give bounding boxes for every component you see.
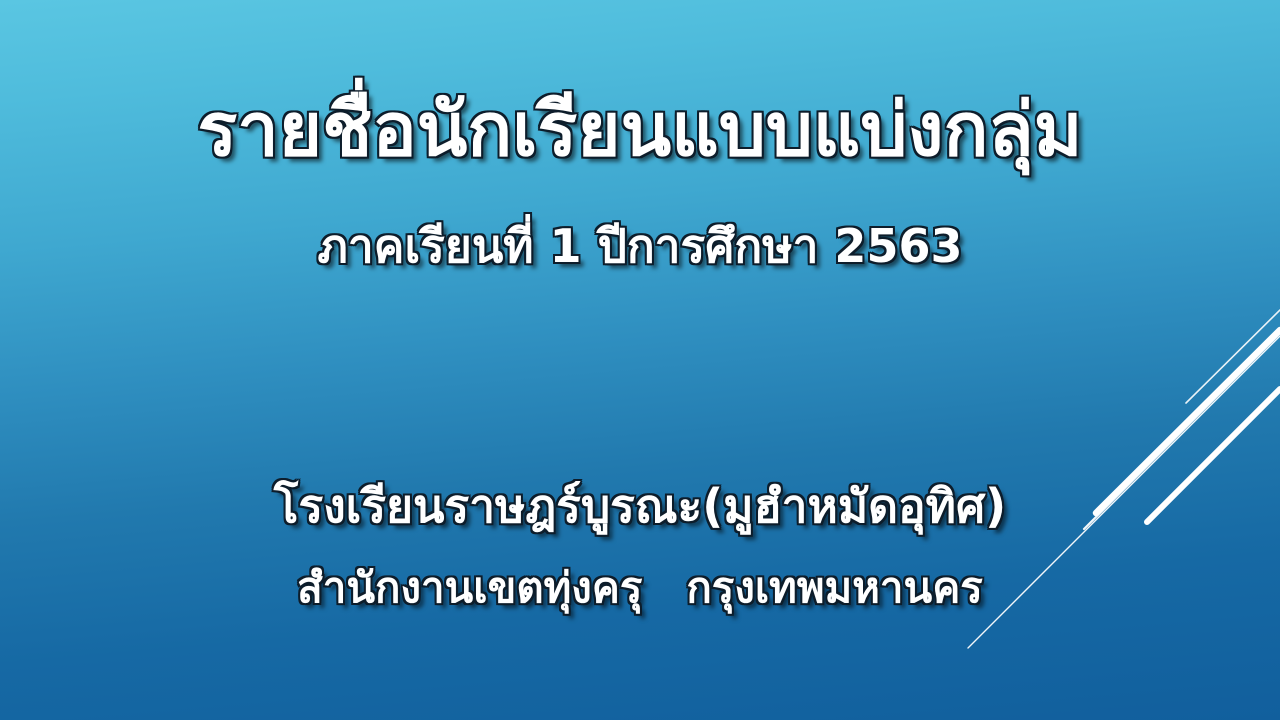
title-slide: รายชื่อนักเรียนแบบแบ่งกลุ่ม ภาคเรียนที่ … (0, 0, 1280, 720)
district-office-line: สำนักงานเขตทุ่งครุ กรุงเทพมหานคร (0, 566, 1280, 610)
slide-title: รายชื่อนักเรียนแบบแบ่งกลุ่ม (0, 92, 1280, 170)
slide-subtitle: ภาคเรียนที่ 1 ปีการศึกษา 2563 (0, 222, 1280, 270)
decorative-line-4 (1186, 310, 1280, 403)
school-name: โรงเรียนราษฎร์บูรณะ(มูฮำหมัดอุทิศ) (0, 482, 1280, 530)
